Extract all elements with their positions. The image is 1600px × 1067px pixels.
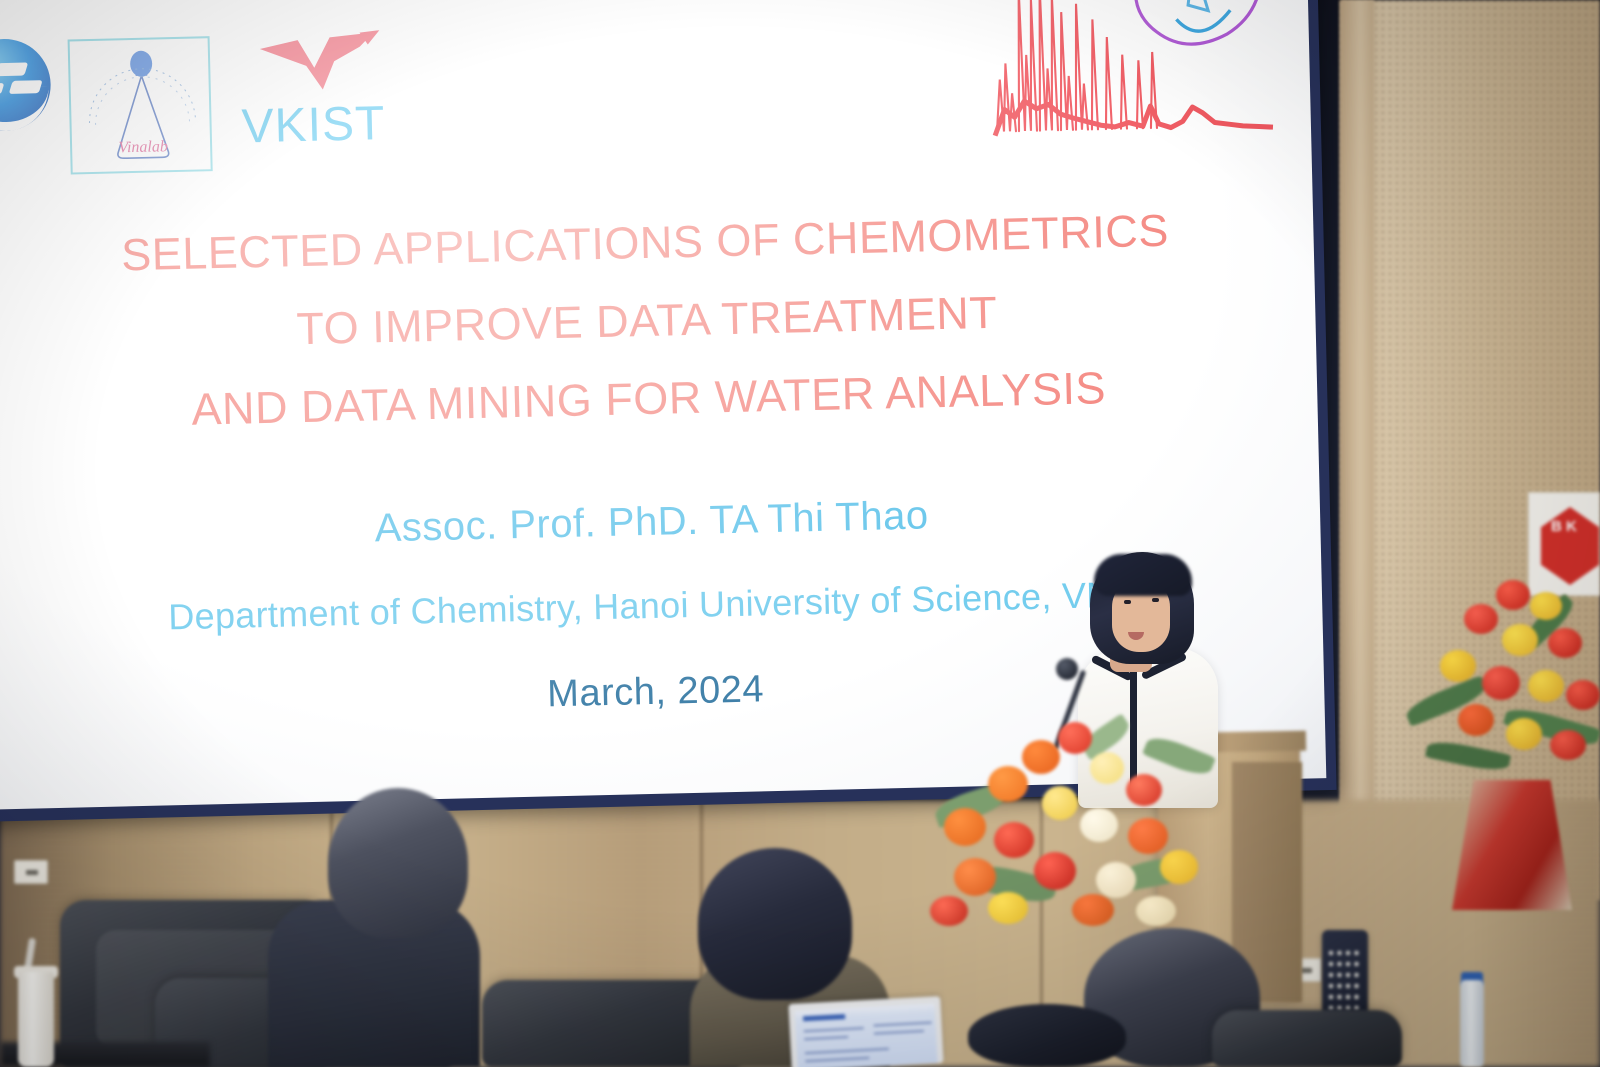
podium-flower-bouquet <box>930 700 1220 930</box>
vinalab-flask-logo: Vinalab <box>68 36 213 174</box>
laptop <box>788 996 943 1067</box>
vkist-bird-mark <box>255 30 387 101</box>
slide-logo-row: MA Vinalab <box>5 23 428 173</box>
globe-logo-label: MA <box>0 131 3 166</box>
laptop-screen <box>795 1003 938 1067</box>
presentation-photo-scene: B K MA <box>0 0 1600 1067</box>
speaker-eye <box>1124 600 1131 604</box>
banner-seal-text: B K <box>1551 517 1577 537</box>
globe-logo-stripe <box>0 62 28 76</box>
audience-person-head <box>328 788 468 938</box>
globe-logo: MA <box>0 38 68 149</box>
slide-title-line-1: SELECTED APPLICATIONS OF CHEMOMETRICS <box>0 204 1314 280</box>
face-doodle-graphic <box>1088 0 1293 99</box>
globe-logo-swoosh <box>0 86 50 132</box>
congratulation-flower-stand <box>1400 570 1600 910</box>
slide-author: Assoc. Prof. PhD. TA Thi Thao <box>0 484 1320 560</box>
flower-stand-wrap <box>1452 780 1572 910</box>
wall-panel-edge-right <box>1340 0 1374 900</box>
water-bottle <box>1460 980 1484 1067</box>
vkist-logo-text: VKIST <box>241 96 386 154</box>
laptop-screen-toolbar <box>803 1014 845 1021</box>
slide-title-line-3: AND DATA MINING FOR WATER ANALYSIS <box>0 360 1318 436</box>
svg-text:Vinalab: Vinalab <box>118 138 168 156</box>
speaker-eye <box>1152 598 1159 602</box>
slide-title-block: SELECTED APPLICATIONS OF CHEMOMETRICS TO… <box>0 204 1318 469</box>
audience-person-head <box>968 1004 1126 1067</box>
audience-chair <box>1212 1010 1402 1067</box>
speaker-fringe <box>1094 554 1192 596</box>
audience-person-head <box>698 848 852 1000</box>
vkist-logo: VKIST <box>233 29 416 173</box>
slide-title-line-2: TO IMPROVE DATA TREATMENT <box>0 282 1316 358</box>
wall-outlet-plate <box>14 860 48 884</box>
drink-cup <box>18 972 54 1067</box>
microphone-head <box>1056 658 1078 680</box>
